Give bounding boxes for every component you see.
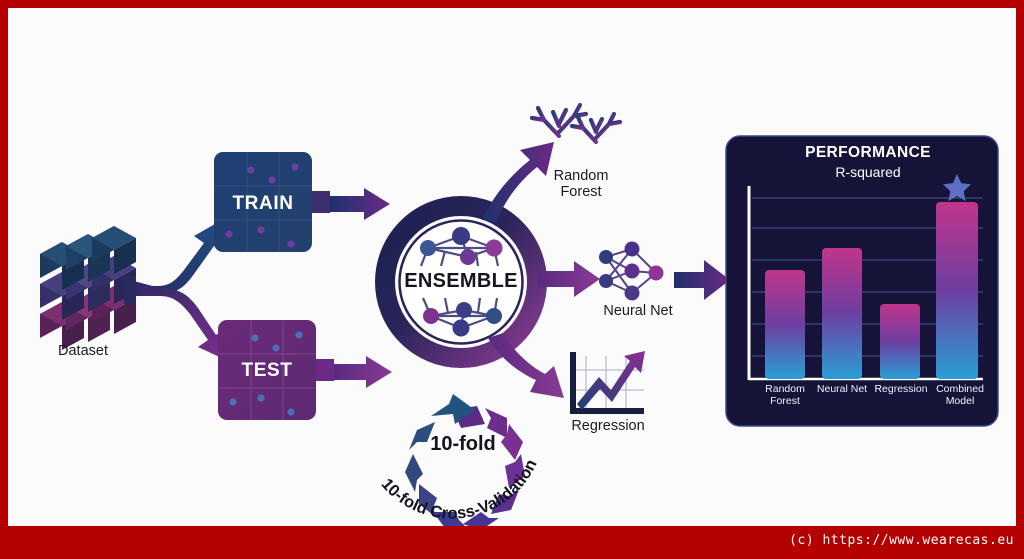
image-frame: 10-fold Cross-Validation	[0, 0, 1024, 559]
bar-neural-net	[822, 248, 862, 379]
arrow-ensemble-to-regression	[488, 333, 564, 398]
bar-label-random-forest: Random Forest	[753, 383, 817, 407]
regression-label: Regression	[548, 418, 668, 434]
trend-chart-icon	[570, 351, 645, 414]
data-cube-icon	[40, 226, 136, 350]
performance-subtitle: R-squared	[738, 164, 998, 180]
cross-validation-center-label: 10-fold	[408, 433, 518, 456]
bar-regression	[880, 304, 920, 379]
train-box-label: TRAIN	[214, 193, 312, 215]
arrow-to-performance-panel	[674, 260, 730, 300]
bar-combined-model	[936, 202, 978, 379]
split-arrow-dataset	[124, 220, 226, 360]
random-forest-label: Random Forest	[526, 168, 636, 200]
dataset-label: Dataset	[28, 343, 138, 359]
bar-random-forest	[765, 270, 805, 379]
arrow-test-to-ensemble	[334, 356, 392, 388]
watermark-text: (c) https://www.wearecas.eu	[789, 533, 1014, 548]
test-box-label: TEST	[218, 360, 316, 382]
performance-title: PERFORMANCE	[738, 144, 998, 162]
arrow-ensemble-to-neural-net	[538, 261, 600, 297]
ensemble-label: ENSEMBLE	[386, 270, 536, 293]
diagram-canvas: 10-fold Cross-Validation	[8, 8, 1016, 526]
neural-network-icon	[599, 242, 664, 301]
neural-net-label: Neural Net	[578, 303, 698, 319]
bar-label-combined-model: Combined Model	[929, 383, 991, 407]
watermark-bar: (c) https://www.wearecas.eu	[0, 526, 1024, 559]
bar-label-neural-net: Neural Net	[813, 383, 871, 395]
bar-label-regression: Regression	[870, 383, 932, 395]
arrow-train-to-ensemble	[330, 188, 390, 220]
